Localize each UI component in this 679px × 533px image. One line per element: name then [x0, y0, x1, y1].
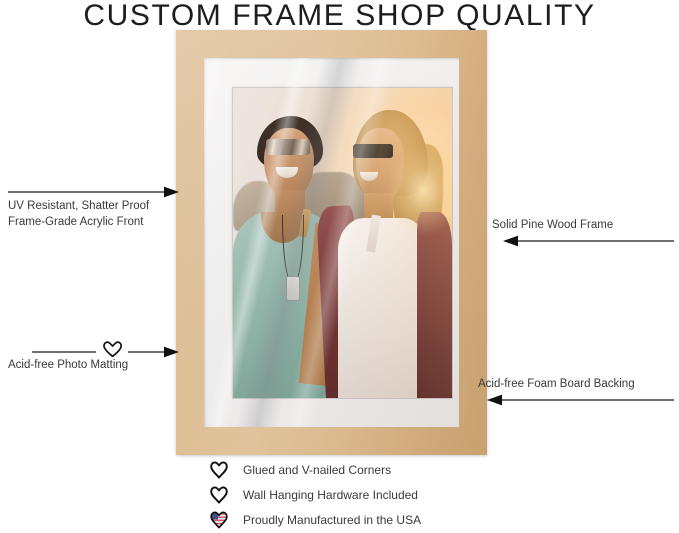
- arrow-left-icon: [478, 394, 674, 406]
- heart-icon: [207, 460, 231, 480]
- annotation-foam-backing: Acid-free Foam Board Backing: [478, 378, 674, 406]
- heart-flag-usa-icon: [207, 510, 231, 530]
- annotation-acrylic-line1: UV Resistant, Shatter Proof: [8, 200, 180, 214]
- annotation-matting-line1: Acid-free Photo Matting: [8, 359, 180, 373]
- annotation-pine-frame: Solid Pine Wood Frame: [492, 219, 674, 247]
- arrow-left-icon: [492, 235, 674, 247]
- list-item-label: Wall Hanging Hardware Included: [243, 488, 418, 502]
- arrow-right-icon: [8, 186, 180, 198]
- annotation-acrylic-line2: Frame-Grade Acrylic Front: [8, 216, 180, 230]
- list-item-label: Proudly Manufactured in the USA: [243, 513, 421, 527]
- annotation-photo-matting: Acid-free Photo Matting: [8, 340, 180, 373]
- arrow-right-icon: [8, 340, 180, 358]
- feature-list: Glued and V-nailed Corners Wall Hanging …: [207, 458, 507, 533]
- couple-sunset-photo: [233, 88, 452, 398]
- photo-mat: [204, 58, 459, 427]
- page-title: CUSTOM FRAME SHOP QUALITY: [0, 0, 679, 32]
- photo-opening: [233, 88, 452, 398]
- heart-icon: [207, 485, 231, 505]
- list-item: Proudly Manufactured in the USA: [207, 508, 507, 532]
- list-item: Wall Hanging Hardware Included: [207, 483, 507, 507]
- list-item-label: Glued and V-nailed Corners: [243, 463, 391, 477]
- picture-frame: [176, 30, 487, 455]
- annotation-backing-line1: Acid-free Foam Board Backing: [478, 378, 674, 392]
- annotation-pine-line1: Solid Pine Wood Frame: [492, 219, 674, 233]
- list-item: Glued and V-nailed Corners: [207, 458, 507, 482]
- annotation-acrylic-front: UV Resistant, Shatter Proof Frame-Grade …: [8, 186, 180, 229]
